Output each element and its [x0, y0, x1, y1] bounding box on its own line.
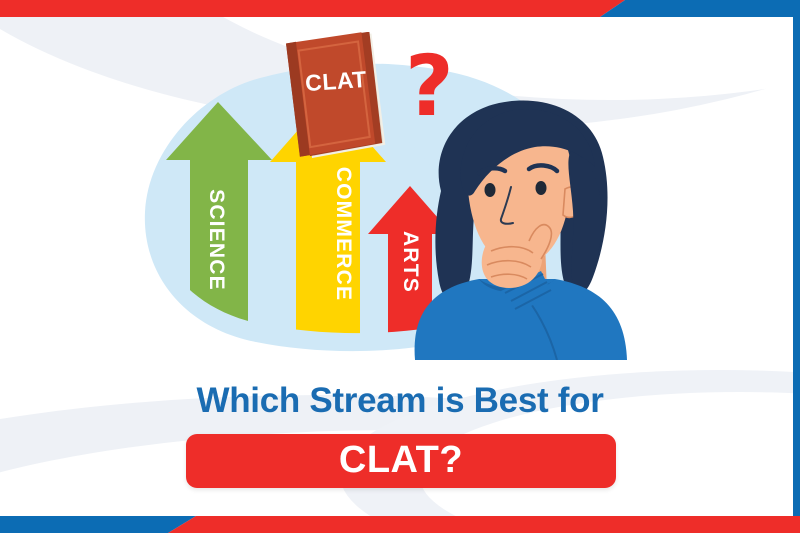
eye-left [485, 183, 496, 197]
clat-stream-poster: SCIENCE COMMERCE ARTS CLAT ? [0, 0, 800, 533]
right-edge-rail [793, 17, 800, 516]
top-bar-blue-segment [600, 0, 800, 17]
page-title: Which Stream is Best for [0, 381, 800, 421]
thinking-woman-illustration [405, 95, 635, 360]
clat-cta-banner: CLAT? [186, 434, 616, 488]
bottom-bar-red-segment [168, 516, 800, 533]
arrow-label-science: SCIENCE [204, 170, 228, 310]
top-bar-red-segment [0, 0, 625, 17]
top-brand-bar [0, 0, 800, 17]
clat-book-illustration [278, 32, 398, 167]
bottom-brand-bar [0, 516, 800, 533]
book-title-text: CLAT [295, 65, 377, 98]
bottom-bar-blue-segment [0, 516, 196, 533]
clat-cta-label: CLAT? [186, 434, 616, 488]
eye-right [536, 181, 547, 195]
arrow-label-commerce: COMMERCE [331, 149, 355, 319]
